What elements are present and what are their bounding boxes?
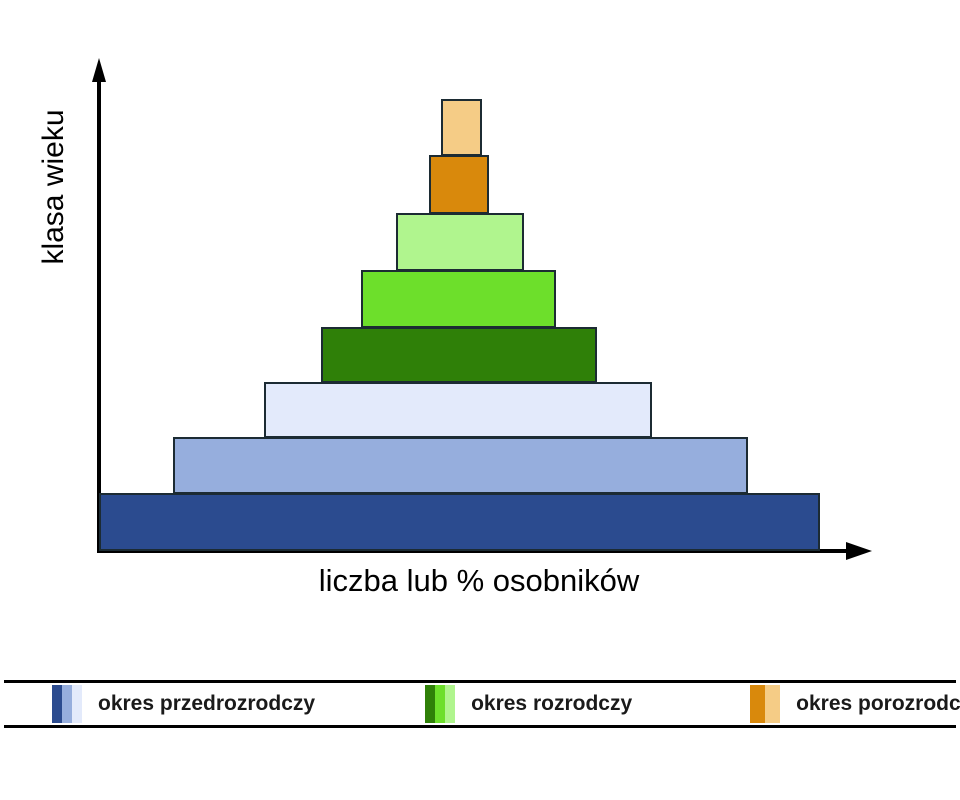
- legend-label-porozrodczy: okres porozrodczy: [796, 692, 960, 716]
- legend-label-rozrodczy: okres rozrodczy: [471, 692, 632, 716]
- pyramid-bar-level-6: [396, 213, 524, 271]
- pyramid-bar-level-2: [173, 437, 748, 494]
- pyramid-bar-level-5: [361, 270, 556, 328]
- y-axis-label: klasa wieku: [34, 72, 74, 302]
- pyramid-bar-level-1: [99, 493, 820, 551]
- legend-item-przedrozrodczy[interactable]: okres przedrozrodczy: [52, 683, 315, 725]
- pyramid-bar-level-7: [429, 155, 489, 214]
- population-pyramid-chart: klasa wieku liczba lub % osobników: [0, 0, 960, 640]
- legend-item-porozrodczy[interactable]: okres porozrodczy: [750, 683, 960, 725]
- pyramid-bar-level-3: [264, 382, 652, 438]
- pyramid-bar-level-4: [321, 327, 597, 383]
- legend-item-rozrodczy[interactable]: okres rozrodczy: [425, 683, 632, 725]
- pyramid-bar-level-8: [441, 99, 482, 156]
- legend-label-przedrozrodczy: okres przedrozrodczy: [98, 692, 315, 716]
- y-axis-arrow-icon: [92, 58, 106, 82]
- legend-swatch-przedrozrodczy: [52, 685, 82, 723]
- legend-swatch-porozrodczy: [750, 685, 780, 723]
- chart-legend: okres przedrozrodczy okres rozrodczy okr…: [4, 680, 956, 728]
- x-axis-label: liczba lub % osobników: [99, 563, 859, 599]
- legend-swatch-rozrodczy: [425, 685, 455, 723]
- x-axis-arrow-icon: [846, 542, 872, 560]
